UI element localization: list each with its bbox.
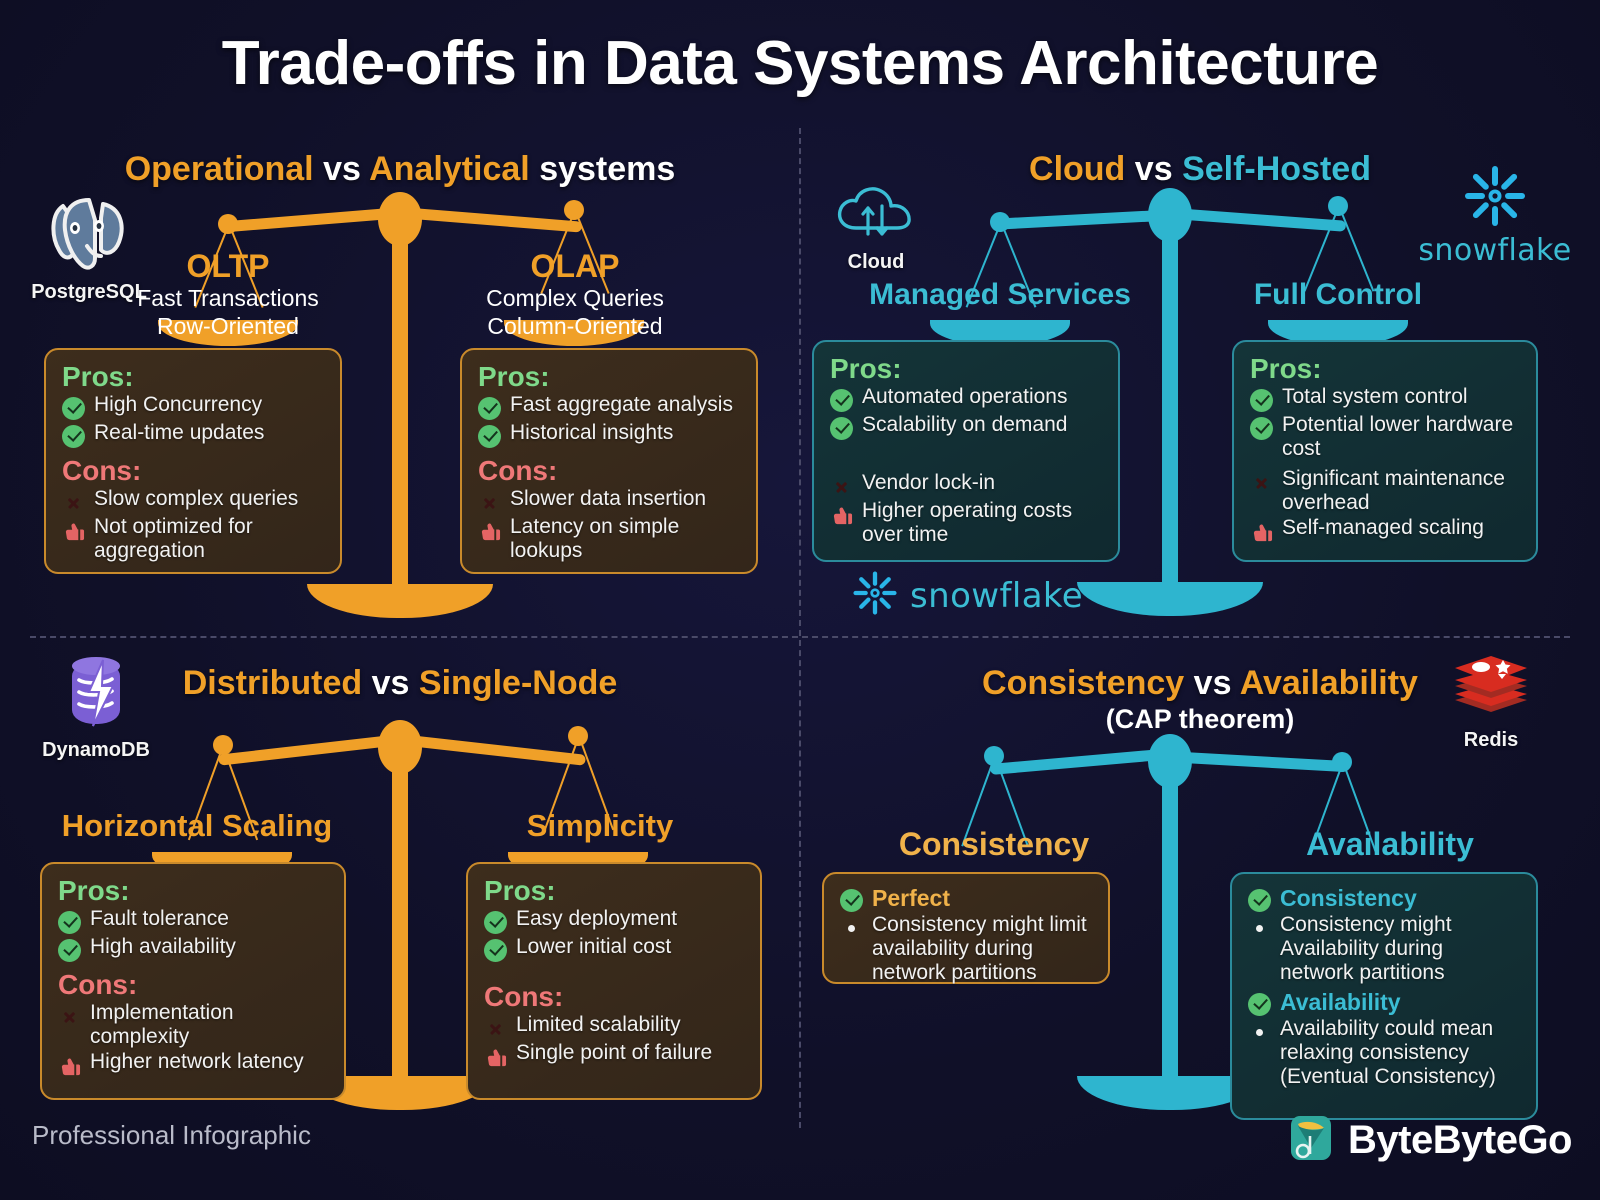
pro-item: Total system control — [1250, 385, 1520, 412]
detail-item: Availability could mean relaxing consist… — [1248, 1017, 1520, 1089]
scale-base — [1077, 582, 1263, 616]
cons-label-spacer — [830, 440, 1102, 470]
pro-text: Fault tolerance — [90, 907, 229, 931]
quadrant-title-vs: vs — [372, 664, 410, 702]
pro-item: Easy deployment — [484, 907, 744, 934]
snowflake-logo-icon — [1463, 215, 1527, 232]
thumbs-down-icon — [830, 503, 853, 526]
pros-label: Pros: — [1250, 354, 1520, 384]
check-icon — [58, 911, 81, 934]
pro-item: High availability — [58, 935, 328, 962]
cons-label: Cons: — [62, 456, 324, 486]
con-text: Implementation complexity — [90, 1001, 328, 1049]
check-icon — [58, 939, 81, 962]
con-item: Limited scalability — [484, 1013, 744, 1040]
quadrant-title-vs: vs — [1194, 664, 1232, 702]
group-header: Perfect — [840, 885, 1092, 912]
scale-post — [392, 736, 408, 1106]
check-icon — [1250, 417, 1273, 440]
thumbs-down-icon — [58, 1054, 81, 1077]
detail-item: Consistency might Availability during ne… — [1248, 913, 1520, 985]
redis-logo-block: Redis — [1426, 650, 1556, 752]
quadrant-title-right: Analytical — [369, 150, 530, 188]
availability-heading: Availability — [1240, 826, 1540, 863]
scale-beam-left — [990, 748, 1174, 775]
cons-label: Cons: — [484, 982, 744, 1012]
quadrant-title-tail: systems — [539, 150, 675, 188]
dynamodb-logo-block: DynamoDB — [26, 654, 166, 762]
con-text: Single point of failure — [516, 1041, 712, 1065]
oltp-label-block: OLTP Fast Transactions Row-Oriented — [118, 248, 338, 340]
detail-text: Consistency might limit availability dur… — [872, 913, 1092, 985]
thumbs-down-icon — [478, 519, 501, 542]
page-title: Trade-offs in Data Systems Architecture — [0, 28, 1600, 99]
horizontal-scaling-heading: Horizontal Scaling — [42, 808, 352, 844]
bytebytego-logo-icon — [1288, 1114, 1334, 1167]
quadrant-operational-vs-analytical: Operational vs Analytical systems — [0, 130, 800, 636]
pro-item: Real-time updates — [62, 421, 324, 448]
horizontal-scaling-card: Pros: Fault tolerance High availability … — [40, 862, 346, 1100]
pro-text: High availability — [90, 935, 236, 959]
con-item: Vendor lock-in — [830, 471, 1102, 498]
cons-label: Cons: — [58, 970, 328, 1000]
scale-base — [307, 584, 493, 618]
cloud-logo-caption: Cloud — [816, 251, 936, 274]
oltp-line-1: Fast Transactions — [118, 285, 338, 313]
con-text: Not optimized for aggregation — [94, 515, 324, 563]
scale-fulcrum — [378, 192, 422, 246]
pro-item: Automated operations — [830, 385, 1102, 412]
consistency-card: Perfect Consistency might limit availabi… — [822, 872, 1110, 984]
managed-services-heading: Managed Services — [860, 278, 1140, 312]
check-icon — [484, 939, 507, 962]
con-item: Implementation complexity — [58, 1001, 328, 1049]
quadrant-title-right: Self-Hosted — [1182, 150, 1371, 188]
con-item: Slower data insertion — [478, 487, 740, 514]
dot-icon — [1248, 917, 1271, 940]
con-item: Higher network latency — [58, 1050, 328, 1077]
con-text: Higher network latency — [90, 1050, 304, 1074]
snowflake-logo-icon — [852, 570, 898, 621]
pro-item: Historical insights — [478, 421, 740, 448]
group-label: Consistency — [1280, 885, 1417, 912]
detail-text: Consistency might Availability during ne… — [1280, 913, 1520, 985]
con-item: Single point of failure — [484, 1041, 744, 1068]
check-icon — [840, 889, 863, 912]
con-text: Higher operating costs over time — [862, 499, 1102, 547]
con-text: Significant maintenance overhead — [1282, 467, 1520, 515]
olap-line-1: Complex Queries — [465, 285, 685, 313]
con-text: Slower data insertion — [510, 487, 706, 511]
thumbs-down-icon — [484, 1045, 507, 1068]
quadrant-title-left: Distributed — [183, 664, 362, 702]
quadrant-title: Operational vs Analytical systems — [0, 150, 800, 189]
full-control-heading: Full Control — [1198, 278, 1478, 312]
pro-item: Scalability on demand — [830, 413, 1102, 440]
check-icon — [484, 911, 507, 934]
cross-icon — [62, 491, 85, 514]
group-label: Availability — [1280, 989, 1401, 1016]
quadrant-title-vs: vs — [323, 150, 361, 188]
thumbs-down-icon — [1250, 520, 1273, 543]
quadrant-title-right: Availability — [1240, 664, 1418, 702]
cloud-logo-block: Cloud — [816, 182, 936, 274]
pro-text: High Concurrency — [94, 393, 262, 417]
con-item: Self-managed scaling — [1250, 516, 1520, 543]
cross-icon — [1250, 471, 1273, 494]
con-item: Higher operating costs over time — [830, 499, 1102, 547]
olap-label-block: OLAP Complex Queries Column-Oriented — [465, 248, 685, 340]
detail-item: Consistency might limit availability dur… — [840, 913, 1092, 985]
group-header: Availability — [1248, 989, 1520, 1016]
cons-label: Cons: — [478, 456, 740, 486]
olap-line-2: Column-Oriented — [465, 313, 685, 341]
footer-brand: ByteByteGo — [1288, 1114, 1572, 1167]
pro-text: Scalability on demand — [862, 413, 1067, 437]
quadrant-title-right: Single-Node — [419, 664, 617, 702]
pro-text: Lower initial cost — [516, 935, 671, 959]
con-item: Slow complex queries — [62, 487, 324, 514]
redis-logo-icon — [1451, 709, 1531, 726]
cloud-sync-icon — [834, 231, 918, 248]
con-text: Latency on simple lookups — [510, 515, 740, 563]
oltp-line-2: Row-Oriented — [118, 313, 338, 341]
snowflake-logo-caption: snowflake — [910, 576, 1083, 616]
con-text: Vendor lock-in — [862, 471, 995, 495]
consistency-heading: Consistency — [844, 826, 1144, 863]
quadrant-cloud-vs-self-hosted: Cloud vs Self-Hosted Cloud — [800, 130, 1600, 636]
pro-text: Easy deployment — [516, 907, 677, 931]
dynamodb-logo-caption: DynamoDB — [26, 739, 166, 762]
pros-label: Pros: — [830, 354, 1102, 384]
scale-fulcrum — [1148, 734, 1192, 788]
pro-item: Lower initial cost — [484, 935, 744, 962]
pros-label: Pros: — [58, 876, 328, 906]
quadrant-title-left: Consistency — [982, 664, 1184, 702]
cross-icon — [478, 491, 501, 514]
quadrant-distributed-vs-single-node: Distributed vs Single-Node DynamoDB — [0, 640, 800, 1120]
snowflake-logo-block-top: snowflake — [1400, 164, 1590, 268]
check-icon — [830, 389, 853, 412]
pro-item: Fault tolerance — [58, 907, 328, 934]
pro-text: Fast aggregate analysis — [510, 393, 733, 417]
pro-text: Historical insights — [510, 421, 673, 445]
availability-card: Consistency Consistency might Availabili… — [1230, 872, 1538, 1120]
dot-icon — [840, 917, 863, 940]
footer-label: Professional Infographic — [32, 1120, 311, 1151]
quadrant-consistency-vs-availability: Consistency vs Availability (CAP theorem… — [800, 640, 1600, 1120]
quadrant-title-left: Operational — [125, 150, 314, 188]
managed-services-card: Pros: Automated operations Scalability o… — [812, 340, 1120, 562]
quadrant-title-left: Cloud — [1029, 150, 1125, 188]
pro-text: Automated operations — [862, 385, 1067, 409]
check-icon — [478, 397, 501, 420]
pro-item: Fast aggregate analysis — [478, 393, 740, 420]
cross-icon — [830, 475, 853, 498]
group-label: Perfect — [872, 885, 950, 912]
con-text: Self-managed scaling — [1282, 516, 1484, 540]
snowflake-logo-block-bottom: snowflake — [852, 570, 1083, 621]
snowflake-logo-caption: snowflake — [1400, 233, 1590, 268]
group-header: Consistency — [1248, 885, 1520, 912]
scale-post — [392, 216, 408, 614]
check-icon — [830, 417, 853, 440]
pros-label: Pros: — [484, 876, 744, 906]
con-text: Limited scalability — [516, 1013, 681, 1037]
con-text: Slow complex queries — [94, 487, 298, 511]
infographic-canvas: Trade-offs in Data Systems Architecture … — [0, 0, 1600, 1200]
simplicity-heading: Simplicity — [450, 808, 750, 844]
pro-item: High Concurrency — [62, 393, 324, 420]
thumbs-down-icon — [62, 519, 85, 542]
redis-logo-caption: Redis — [1426, 729, 1556, 752]
horizontal-divider — [30, 636, 1570, 638]
bytebytego-wordmark: ByteByteGo — [1348, 1118, 1572, 1163]
quadrant-title-vs: vs — [1135, 150, 1173, 188]
pro-text: Total system control — [1282, 385, 1468, 409]
scale-post — [1162, 758, 1178, 1106]
check-icon — [62, 397, 85, 420]
oltp-heading: OLTP — [118, 248, 338, 285]
check-icon — [1248, 889, 1271, 912]
full-control-card: Pros: Total system control Potential low… — [1232, 340, 1538, 562]
dynamodb-logo-icon — [65, 719, 127, 736]
detail-text: Availability could mean relaxing consist… — [1280, 1017, 1520, 1089]
scale-post — [1162, 212, 1178, 612]
oltp-pros-cons-card: Pros: High Concurrency Real-time updates… — [44, 348, 342, 574]
pros-label: Pros: — [62, 362, 324, 392]
con-item: Not optimized for aggregation — [62, 515, 324, 563]
check-icon — [62, 425, 85, 448]
pro-text: Real-time updates — [94, 421, 264, 445]
dot-icon — [1248, 1021, 1271, 1044]
cross-icon — [58, 1005, 81, 1028]
simplicity-card: Pros: Easy deployment Lower initial cost… — [466, 862, 762, 1100]
pro-text: Potential lower hardware cost — [1282, 413, 1520, 461]
con-item: Significant maintenance overhead — [1250, 467, 1520, 515]
olap-heading: OLAP — [465, 248, 685, 285]
check-icon — [1250, 389, 1273, 412]
check-icon — [478, 425, 501, 448]
scale-fulcrum — [1148, 188, 1192, 242]
scale-fulcrum — [378, 720, 422, 774]
pros-label: Pros: — [478, 362, 740, 392]
check-icon — [1248, 993, 1271, 1016]
cross-icon — [484, 1017, 507, 1040]
olap-pros-cons-card: Pros: Fast aggregate analysis Historical… — [460, 348, 758, 574]
con-item: Latency on simple lookups — [478, 515, 740, 563]
pro-item: Potential lower hardware cost — [1250, 413, 1520, 461]
